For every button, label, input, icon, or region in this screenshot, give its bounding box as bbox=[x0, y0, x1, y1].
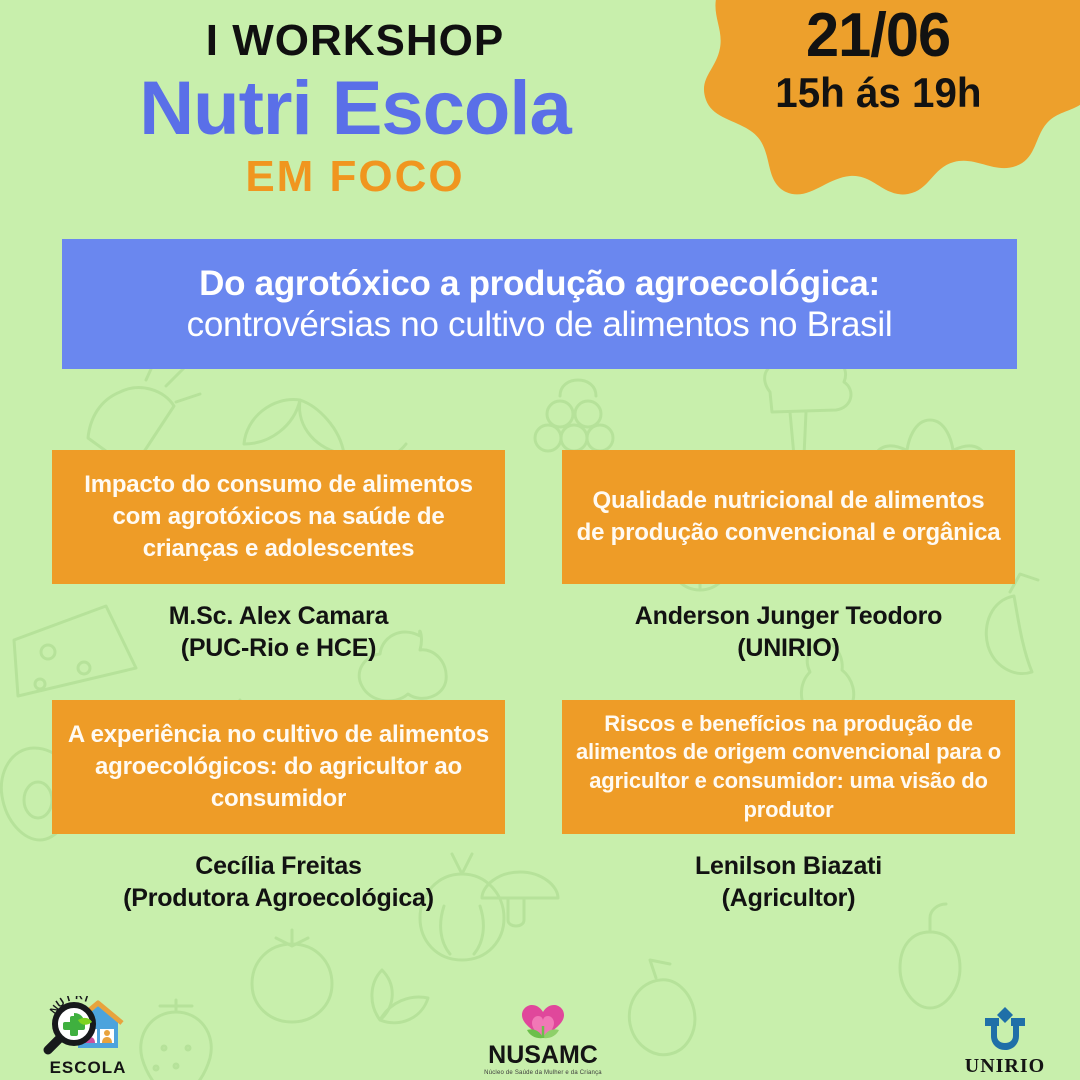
unirio-icon bbox=[975, 1006, 1035, 1054]
logo-nusamc: NUSAMC Núcleo de Saúde da Mulher e da Cr… bbox=[468, 996, 618, 1076]
svg-text:R: R bbox=[75, 996, 83, 1002]
talk-speaker-4: Lenilson Biazati (Agricultor) bbox=[562, 850, 1015, 914]
speaker-affiliation-4: (Agricultor) bbox=[562, 882, 1015, 914]
speaker-affiliation-1: (PUC-Rio e HCE) bbox=[52, 632, 505, 664]
theme-subtitle: controvérsias no cultivo de alimentos no… bbox=[187, 304, 893, 345]
nutri-escola-icon: N U T R I bbox=[34, 996, 142, 1058]
talk-title-3: A experiência no cultivo de alimentos ag… bbox=[66, 719, 491, 814]
logo-unirio: UNIRIO bbox=[950, 1006, 1060, 1076]
talk-title-2: Qualidade nutricional de alimentos de pr… bbox=[576, 485, 1001, 548]
talks-section: Impacto do consumo de alimentos com agro… bbox=[0, 450, 1080, 950]
talk-title-1: Impacto do consumo de alimentos com agro… bbox=[66, 469, 491, 564]
unirio-wordmark: UNIRIO bbox=[950, 1056, 1060, 1076]
talk-title-box-2: Qualidade nutricional de alimentos de pr… bbox=[562, 450, 1015, 584]
event-tagline: EM FOCO bbox=[0, 154, 710, 200]
nusamc-wordmark: NUSAMC bbox=[468, 1043, 618, 1068]
talk-card-2: Qualidade nutricional de alimentos de pr… bbox=[562, 450, 1015, 664]
talk-card-4: Riscos e benefícios na produção de alime… bbox=[562, 700, 1015, 914]
theme-title: Do agrotóxico a produção agroecológica: bbox=[199, 263, 880, 304]
speaker-affiliation-2: (UNIRIO) bbox=[562, 632, 1015, 664]
talk-speaker-3: Cecília Freitas (Produtora Agroecológica… bbox=[52, 850, 505, 914]
talk-title-4: Riscos e benefícios na produção de alime… bbox=[576, 710, 1001, 824]
talk-speaker-1: M.Sc. Alex Camara (PUC-Rio e HCE) bbox=[52, 600, 505, 664]
talk-card-3: A experiência no cultivo de alimentos ag… bbox=[52, 700, 505, 914]
speaker-name-4: Lenilson Biazati bbox=[695, 852, 882, 880]
nusamc-heart-icon bbox=[508, 996, 578, 1042]
speaker-name-2: Anderson Junger Teodoro bbox=[635, 602, 942, 630]
talk-title-box-3: A experiência no cultivo de alimentos ag… bbox=[52, 700, 505, 834]
event-time: 15h ás 19h bbox=[775, 70, 981, 116]
theme-banner: Do agrotóxico a produção agroecológica: … bbox=[62, 239, 1017, 369]
speaker-name-3: Cecília Freitas bbox=[195, 852, 362, 880]
poster-root: 21/06 15h ás 19h I WORKSHOP Nutri Escola… bbox=[0, 0, 1080, 1080]
nutri-escola-wordmark: ESCOLA bbox=[22, 1059, 154, 1076]
talk-row-1: Impacto do consumo de alimentos com agro… bbox=[0, 450, 1080, 700]
event-kicker: I WORKSHOP bbox=[0, 18, 710, 64]
talk-card-1: Impacto do consumo de alimentos com agro… bbox=[52, 450, 505, 664]
talk-speaker-2: Anderson Junger Teodoro (UNIRIO) bbox=[562, 600, 1015, 664]
speaker-name-1: M.Sc. Alex Camara bbox=[169, 602, 388, 630]
event-date: 21/06 bbox=[806, 4, 950, 68]
date-blob: 21/06 15h ás 19h bbox=[668, 0, 1080, 198]
poster-header: I WORKSHOP Nutri Escola EM FOCO bbox=[0, 0, 710, 200]
svg-text:I: I bbox=[83, 996, 90, 1005]
talk-row-2: A experiência no cultivo de alimentos ag… bbox=[0, 700, 1080, 950]
speaker-affiliation-3: (Produtora Agroecológica) bbox=[52, 882, 505, 914]
talk-title-box-1: Impacto do consumo de alimentos com agro… bbox=[52, 450, 505, 584]
logo-nutri-escola: N U T R I ESCOLA bbox=[22, 996, 154, 1076]
event-title: Nutri Escola bbox=[0, 68, 710, 150]
footer-logos: N U T R I ESCOLA NUSAMC Núcleo de bbox=[0, 984, 1080, 1080]
nusamc-tagline: Núcleo de Saúde da Mulher e da Criança bbox=[468, 1070, 618, 1076]
talk-title-box-4: Riscos e benefícios na produção de alime… bbox=[562, 700, 1015, 834]
